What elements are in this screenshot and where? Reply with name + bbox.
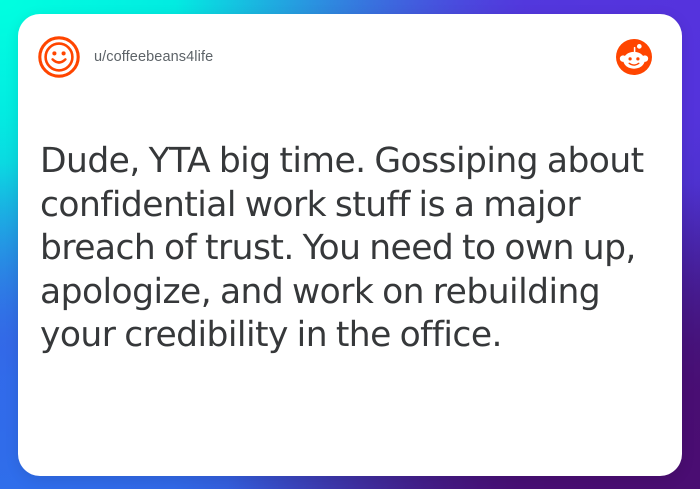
avatar[interactable] <box>38 36 80 78</box>
brand-logo[interactable] <box>616 39 652 75</box>
smiley-face-avatar-icon <box>38 36 80 78</box>
card-header: u/coffeebeans4life <box>18 14 682 100</box>
reddit-snoo-logo-icon <box>616 39 652 75</box>
reddit-quote-card: u/coffeebeans4life Dude, YTA big tim <box>18 14 682 476</box>
quote-text: Dude, YTA big time. Gossiping about conf… <box>40 140 662 358</box>
username-label: u/coffeebeans4life <box>94 49 213 65</box>
